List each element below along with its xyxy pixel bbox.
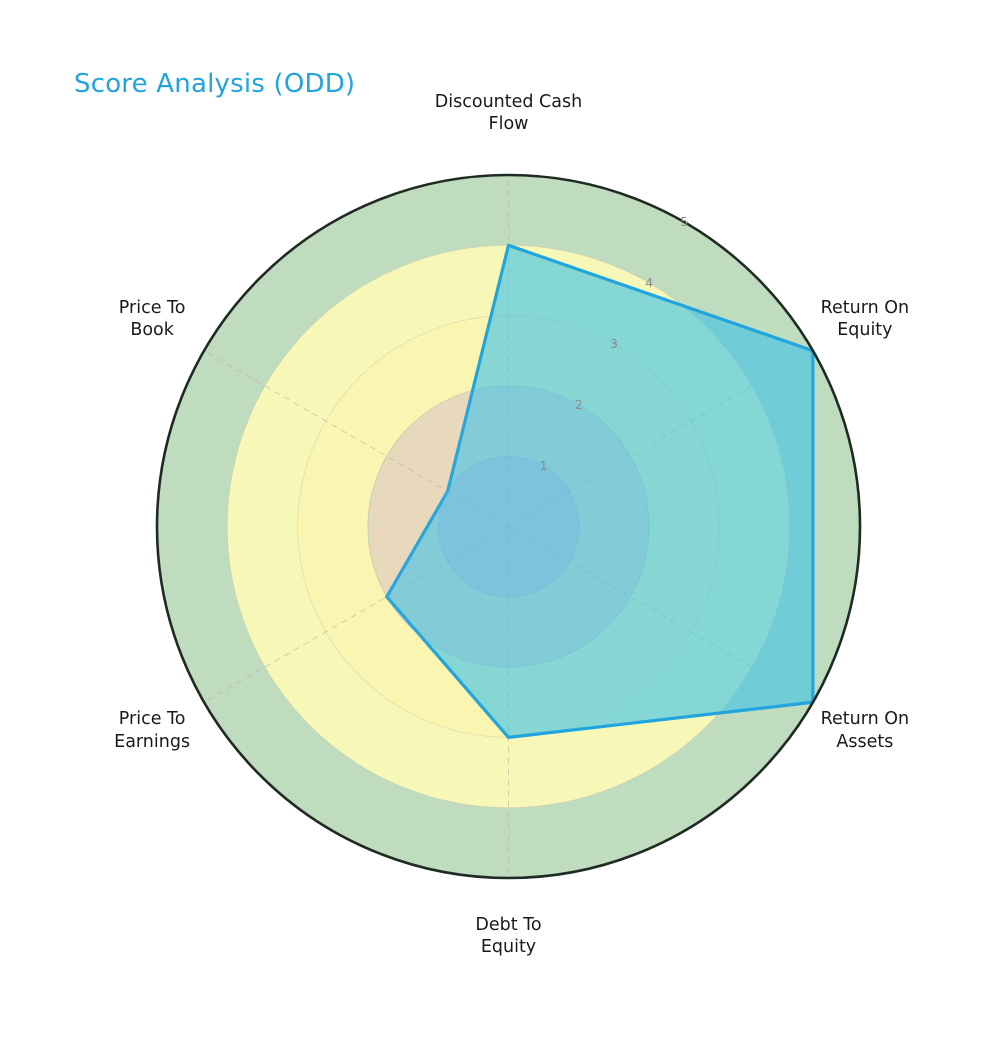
radial-tick-2: 2 <box>564 397 594 412</box>
axis-label-price-to-earnings: Price To Earnings <box>57 708 247 753</box>
radial-tick-1: 1 <box>529 458 559 473</box>
page-title: Score Analysis (ODD) <box>74 69 355 99</box>
axis-label-price-to-book: Price To Book <box>57 297 247 342</box>
radar-chart-container: Score Analysis (ODD) Discounted Cash Flo… <box>0 0 1000 1047</box>
radial-tick-5: 5 <box>669 214 699 229</box>
axis-label-debt-to-equity: Debt To Equity <box>414 914 604 959</box>
inner-disc-2 <box>368 386 649 667</box>
radial-tick-4: 4 <box>634 275 664 290</box>
axis-label-return-on-assets: Return On Assets <box>770 708 960 753</box>
radar-plot <box>0 0 1000 1047</box>
radial-tick-3: 3 <box>599 336 629 351</box>
axis-label-return-on-equity: Return On Equity <box>770 297 960 342</box>
axis-label-discounted-cash-flow: Discounted Cash Flow <box>414 91 604 136</box>
